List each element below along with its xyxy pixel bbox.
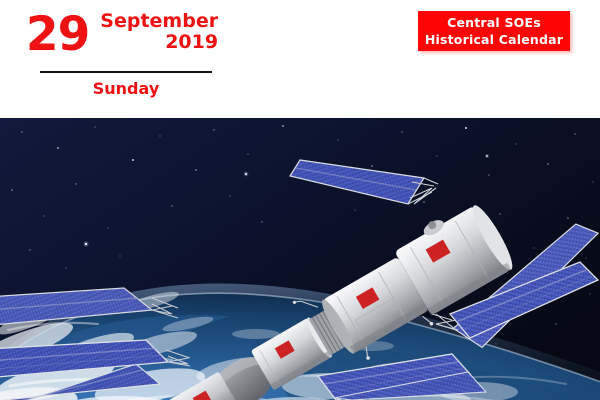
brand-badge[interactable]: Central SOEs Historical Calendar <box>418 11 570 51</box>
date-block: 29 September 2019 Sunday <box>22 8 222 66</box>
year-number: 2019 <box>100 32 218 53</box>
month-year-group: September 2019 <box>100 8 218 53</box>
badge-line-1: Central SOEs <box>447 14 541 31</box>
date-top-row: 29 September 2019 <box>22 8 222 66</box>
weekday-label: Sunday <box>22 79 230 98</box>
hero-photo <box>0 118 600 400</box>
badge-line-2: Historical Calendar <box>425 31 563 48</box>
space-station-illustration <box>0 118 600 400</box>
header: 29 September 2019 Sunday Central SOEs Hi… <box>0 0 600 118</box>
calendar-page: 29 September 2019 Sunday Central SOEs Hi… <box>0 0 600 400</box>
day-number: 29 <box>26 8 89 62</box>
month-name: September <box>100 11 218 32</box>
date-divider-rule <box>40 71 212 73</box>
